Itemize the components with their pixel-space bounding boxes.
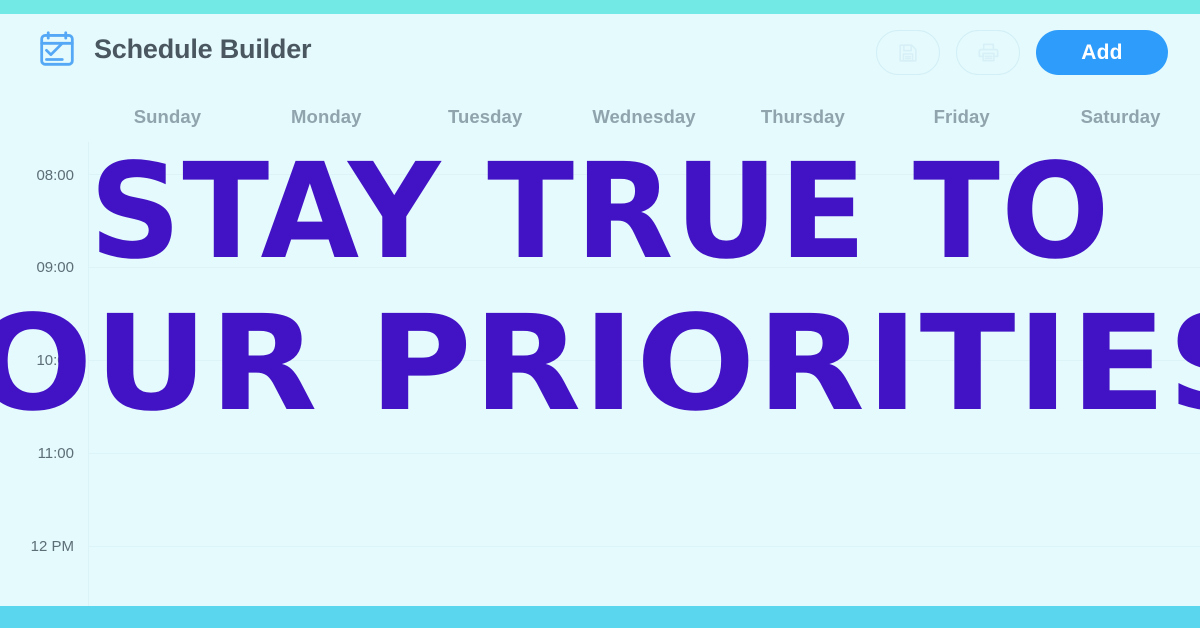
day-header-tuesday[interactable]: Tuesday <box>406 100 565 134</box>
calendar-check-icon <box>36 28 78 70</box>
day-header-sunday[interactable]: Sunday <box>88 100 247 134</box>
time-label-1100: 11:00 <box>38 445 74 462</box>
bottom-accent-bar <box>0 606 1200 628</box>
add-button[interactable]: Add <box>1036 30 1168 75</box>
print-button[interactable] <box>956 30 1020 75</box>
day-header-thursday[interactable]: Thursday <box>723 100 882 134</box>
grid-line-0800 <box>89 174 1200 175</box>
top-accent-bar <box>0 0 1200 14</box>
poster-canvas: Schedule Builder <box>0 0 1200 628</box>
time-label-1000: 10:00 <box>36 352 74 369</box>
day-header-saturday[interactable]: Saturday <box>1041 100 1200 134</box>
time-label-12pm: 12 PM <box>31 538 74 555</box>
time-gutter: 08:00 09:00 10:00 11:00 12 PM <box>0 142 88 606</box>
calendar-day-header-row: Sunday Monday Tuesday Wednesday Thursday… <box>88 100 1200 134</box>
printer-icon <box>977 41 1000 64</box>
brand: Schedule Builder <box>36 28 311 70</box>
floppy-disk-icon <box>897 42 919 64</box>
calendar-grid-body[interactable] <box>88 142 1200 606</box>
save-button[interactable] <box>876 30 940 75</box>
grid-line-1100 <box>89 453 1200 454</box>
grid-line-1200 <box>89 546 1200 547</box>
grid-line-0900 <box>89 267 1200 268</box>
day-header-friday[interactable]: Friday <box>882 100 1041 134</box>
time-label-0800: 08:00 <box>36 167 74 184</box>
grid-line-1000 <box>89 360 1200 361</box>
header-actions: Add <box>876 30 1168 75</box>
page-title: Schedule Builder <box>94 34 311 65</box>
time-label-0900: 09:00 <box>36 259 74 276</box>
app-header: Schedule Builder <box>0 14 1200 94</box>
day-header-wednesday[interactable]: Wednesday <box>565 100 724 134</box>
day-header-monday[interactable]: Monday <box>247 100 406 134</box>
